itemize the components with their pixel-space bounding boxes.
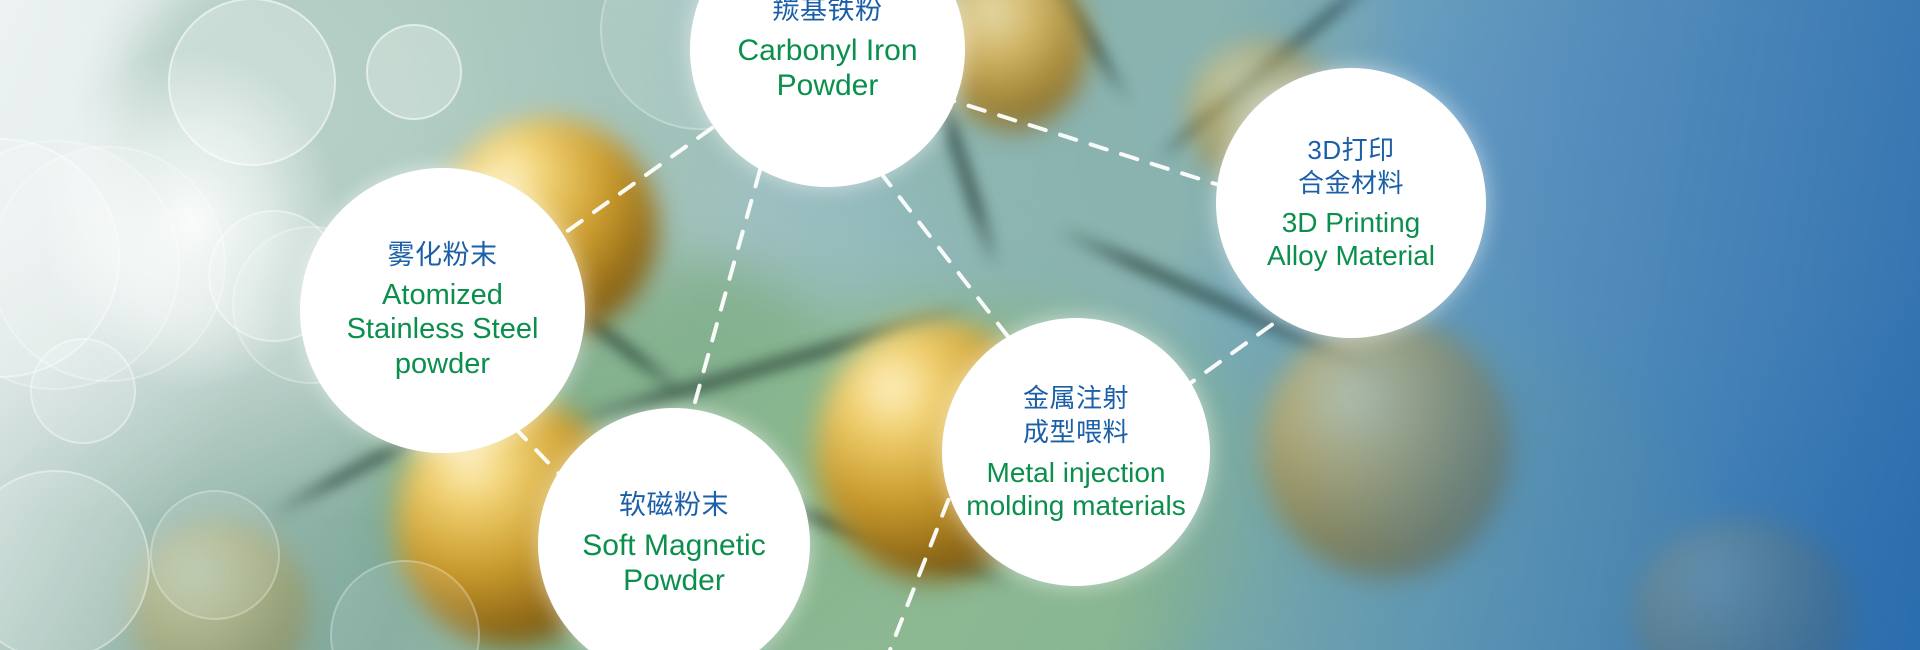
bubble-atomized-en-label: Atomized Stainless Steel powder [347,278,539,381]
bubble-atomized-cn-label: 雾化粉末 [388,240,498,272]
connector-carbonyl-atomized [566,128,712,232]
connector-lines [0,0,1920,650]
bubble-mim-en-label: Metal injection molding materials [966,456,1185,522]
connector-carbonyl-softmag [690,170,760,420]
bubble-atomized-stainless-steel-powder[interactable]: 雾化粉末 Atomized Stainless Steel powder [300,168,585,453]
bubble-3dprint-cn-label: 3D打印 合金材料 [1298,134,1404,202]
bubble-metal-injection-molding-materials[interactable]: 金属注射 成型喂料 Metal injection molding materi… [942,318,1210,586]
connector-carbonyl-3dprint [938,96,1222,186]
bubble-3d-printing-alloy-material[interactable]: 3D打印 合金材料 3D Printing Alloy Material [1216,68,1486,338]
bubble-3dprint-en-label: 3D Printing Alloy Material [1267,206,1435,272]
bubble-softmag-cn-label: 软磁粉末 [619,490,729,522]
bubble-carbonyl-cn-label: 羰基铁粉 [773,0,883,27]
bubble-mim-cn-label: 金属注射 成型喂料 [1023,382,1129,450]
bubble-carbonyl-en-label: Carbonyl Iron Powder [737,33,917,104]
connector-3dprint-mim [1178,306,1298,392]
connector-carbonyl-mim [880,172,1020,352]
banner-stage: 羰基铁粉 Carbonyl Iron Powder 雾化粉末 Atomized … [0,0,1920,650]
bubble-softmag-en-label: Soft Magnetic Powder [582,528,765,599]
